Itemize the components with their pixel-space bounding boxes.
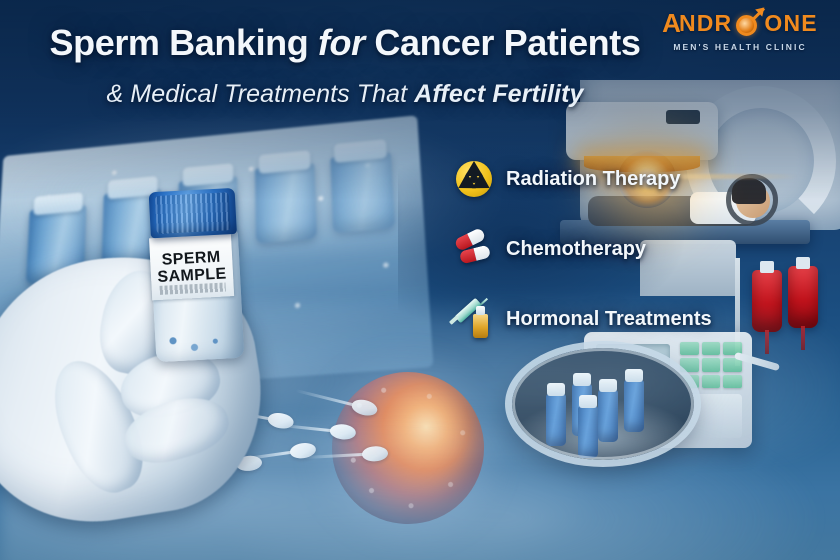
sperm-tail xyxy=(295,389,356,407)
subtitle-bold-part: Affect Fertility xyxy=(414,80,583,108)
radiation-center-dot xyxy=(470,175,478,183)
page-subtitle: & Medical Treatments That Affect Fertili… xyxy=(0,80,690,109)
keypad-key xyxy=(702,375,721,388)
blood-bag xyxy=(752,270,782,332)
title-part-1: Sperm Banking xyxy=(50,22,309,63)
vial-label: SPERM SAMPLE xyxy=(149,234,234,300)
subtitle-part-1: & Medical Treatments That xyxy=(106,80,407,108)
treatment-item-radiation[interactable]: Radiation Therapy xyxy=(452,156,752,202)
treatment-label: Hormonal Treatments xyxy=(506,308,712,331)
treatment-label: Chemotherapy xyxy=(506,238,646,261)
treatment-item-hormonal[interactable]: Hormonal Treatments xyxy=(452,296,752,342)
page-title: Sperm Banking for Cancer Patients xyxy=(0,22,690,64)
title-italic-word: for xyxy=(318,22,365,63)
egg-frost-texture xyxy=(332,372,484,524)
sperm-banking-banner: SPERM SAMPLE Sperm Banking for Cancer Pa… xyxy=(0,0,840,560)
egg-cell-image xyxy=(332,372,484,524)
keypad-key xyxy=(723,375,742,388)
treatments-list: Radiation Therapy Chemotherapy xyxy=(452,156,752,366)
radiation-circle xyxy=(456,161,492,197)
logo-word-ndro: NDR xyxy=(679,10,732,37)
blood-bag xyxy=(788,266,818,328)
brand-logo[interactable]: A NDR ONE MEN'S HEALTH CLINIC xyxy=(654,6,826,62)
syringe-vial-icon xyxy=(452,297,496,341)
logo-letter-a: A xyxy=(662,8,681,39)
sperm-sample-vial: SPERM SAMPLE xyxy=(144,188,249,363)
logo-wordmark: A NDR ONE xyxy=(654,6,826,40)
title-part-2: Cancer Patients xyxy=(374,22,640,63)
logo-word-one: ONE xyxy=(764,10,817,37)
radiation-trefoil-icon xyxy=(452,157,496,201)
capsule-half-white xyxy=(473,245,491,261)
treatment-label: Radiation Therapy xyxy=(506,168,680,191)
logo-tagline: MEN'S HEALTH CLINIC xyxy=(654,42,826,52)
treatment-item-chemotherapy[interactable]: Chemotherapy xyxy=(452,226,752,272)
mars-male-symbol-icon xyxy=(733,8,763,38)
vial-cap xyxy=(149,188,237,238)
medicine-vial xyxy=(473,314,488,338)
pill-capsules-icon xyxy=(452,227,496,271)
